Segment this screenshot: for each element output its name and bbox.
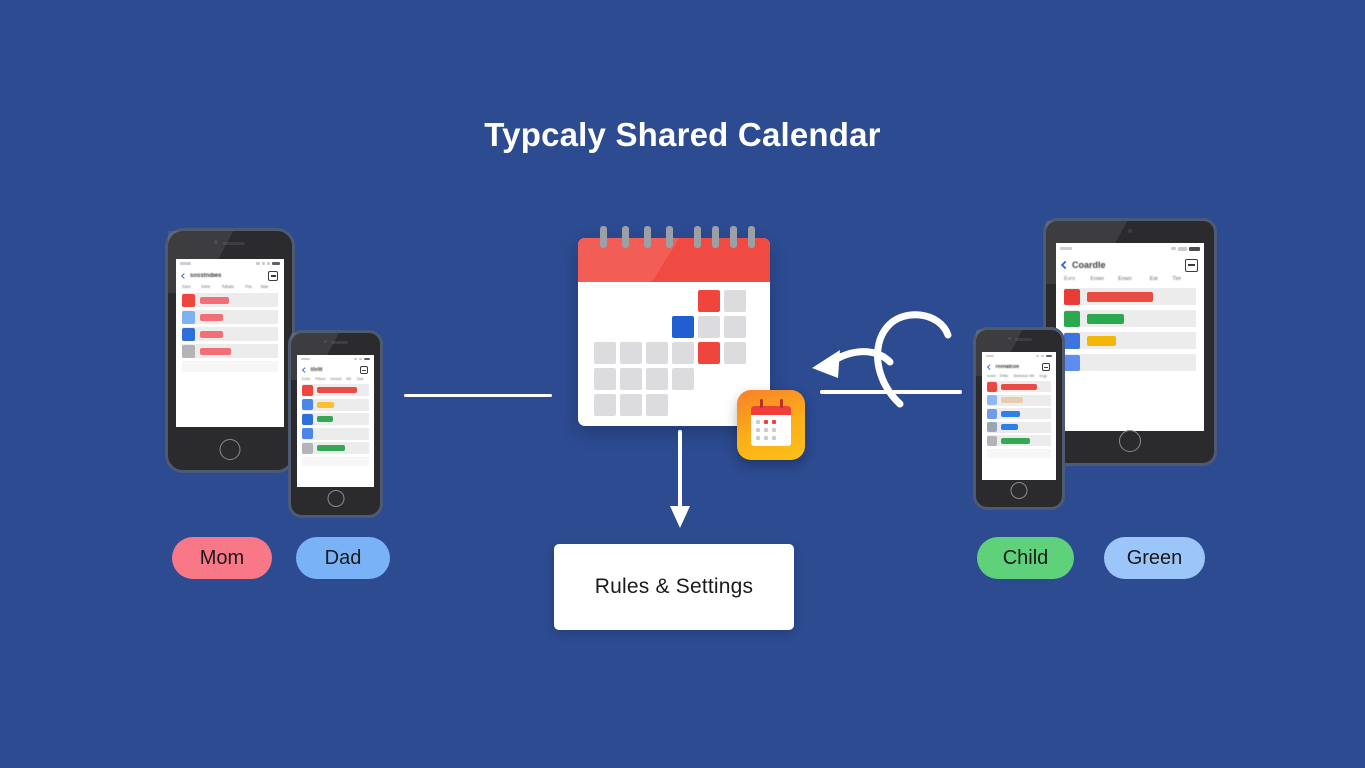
list-item[interactable] (182, 361, 278, 372)
color-swatch (182, 311, 195, 324)
diagram-canvas: Typcaly Shared Calendar (0, 0, 1365, 768)
home-button[interactable] (1119, 430, 1141, 452)
calendar-day-cell (698, 316, 720, 338)
down-arrow (660, 432, 700, 532)
calendar-day-cell (724, 290, 746, 312)
event-bar (1087, 336, 1116, 346)
speaker-grill (331, 341, 348, 344)
pill-label: Green (1127, 547, 1183, 570)
device-phone-mom[interactable]: sosstnibes Sare Inine fubate Fra Nae (165, 228, 295, 473)
column-headers: Sare Inine fubate Fra Nae (176, 284, 284, 289)
list-item[interactable] (182, 327, 278, 341)
calendar-day-cell (594, 394, 616, 416)
calendar-day-cell (672, 342, 694, 364)
calendar-day-cell (646, 342, 668, 364)
list-item[interactable] (1064, 354, 1196, 371)
list-item[interactable] (987, 408, 1051, 419)
home-button[interactable] (327, 490, 344, 507)
calendar-day-cell (672, 316, 694, 338)
list-item[interactable] (302, 384, 369, 396)
calendar-day-cell (672, 368, 694, 390)
color-swatch (1064, 355, 1080, 371)
tablet-screen[interactable]: Coardle Evro Eowo Eowo Ear Tier (1056, 243, 1204, 431)
app-navbar: tileltt (297, 363, 374, 377)
event-bar (1001, 411, 1020, 417)
minus-box-icon[interactable] (1042, 363, 1050, 371)
event-list[interactable] (982, 381, 1056, 458)
color-swatch (987, 395, 997, 405)
event-bar (1001, 384, 1037, 390)
minus-box-icon[interactable] (1185, 259, 1198, 272)
device-phone-child[interactable]: reenatcoe Ionee Ettiiic Betnuiue Mit Erg… (973, 327, 1065, 510)
nav-title: Coardle (1072, 260, 1106, 270)
color-swatch (302, 428, 313, 439)
nav-title: sosstnibes (190, 273, 221, 279)
status-bar (982, 352, 1056, 360)
rules-and-settings-box[interactable]: Rules & Settings (554, 544, 794, 630)
list-item[interactable] (182, 293, 278, 307)
nav-title: reenatcoe (996, 364, 1020, 370)
chevron-left-icon[interactable] (987, 365, 992, 370)
calendar-day-cell (724, 316, 746, 338)
pill-green[interactable]: Green (1104, 537, 1205, 579)
status-bar (1056, 243, 1204, 254)
pill-mom[interactable]: Mom (172, 537, 272, 579)
event-bar (317, 387, 357, 393)
camera-icon (324, 340, 327, 343)
color-swatch (1064, 333, 1080, 349)
calendar-grid (594, 290, 754, 416)
chevron-left-icon[interactable] (1061, 261, 1069, 269)
minus-box-icon[interactable] (360, 366, 368, 374)
camera-icon (1128, 229, 1132, 233)
calendar-day-cell (646, 394, 668, 416)
event-bar (317, 416, 333, 422)
list-item[interactable] (987, 395, 1051, 406)
list-item[interactable] (987, 435, 1051, 446)
calendar-rings (578, 226, 770, 250)
event-list[interactable] (1056, 288, 1204, 371)
list-item[interactable] (987, 449, 1051, 458)
phone-dad-screen[interactable]: tileltt Enite Piteon Unnest Mir Duk (297, 355, 374, 487)
event-bar (1001, 397, 1023, 403)
color-swatch (1064, 311, 1080, 327)
connector-line-left (404, 394, 552, 397)
list-item[interactable] (1064, 310, 1196, 327)
color-swatch (302, 443, 313, 454)
pill-label: Dad (325, 547, 362, 570)
event-bar (200, 314, 223, 321)
curved-sync-arrow (800, 300, 970, 425)
event-bar (200, 331, 223, 338)
status-bar (176, 259, 284, 268)
calendar-day-cell (698, 290, 720, 312)
list-item[interactable] (1064, 332, 1196, 349)
event-bar (200, 297, 229, 304)
color-swatch (1064, 289, 1080, 305)
chevron-left-icon[interactable] (181, 273, 187, 279)
event-bar (1001, 424, 1018, 430)
event-bar (317, 445, 345, 451)
device-tablet-green[interactable]: Coardle Evro Eowo Eowo Ear Tier (1043, 218, 1217, 466)
column-headers: Enite Piteon Unnest Mir Duk (297, 377, 374, 381)
list-item[interactable] (302, 457, 369, 466)
calendar-day-cell (620, 342, 642, 364)
app-navbar: sosstnibes (176, 268, 284, 284)
app-navbar: reenatcoe (982, 360, 1056, 374)
color-swatch (302, 414, 313, 425)
rules-label: Rules & Settings (595, 575, 753, 599)
event-list[interactable] (297, 384, 374, 466)
color-swatch (182, 345, 195, 358)
speaker-grill (1015, 338, 1032, 341)
event-bar (1087, 292, 1153, 302)
column-headers: Ionee Ettiiic Betnuiue Mit Ergp (982, 374, 1056, 378)
color-swatch (302, 399, 313, 410)
camera-icon (214, 240, 218, 244)
speaker-grill (223, 242, 245, 245)
phone-child-screen[interactable]: reenatcoe Ionee Ettiiic Betnuiue Mit Erg… (982, 352, 1056, 480)
phone-mom-screen[interactable]: sosstnibes Sare Inine fubate Fra Nae (176, 259, 284, 427)
color-swatch (182, 294, 195, 307)
list-item[interactable] (987, 422, 1051, 433)
color-swatch (987, 382, 997, 392)
nav-title: tileltt (311, 367, 323, 373)
color-swatch (302, 385, 313, 396)
event-bar (317, 402, 334, 408)
calendar-day-cell (698, 342, 720, 364)
home-button[interactable] (220, 439, 241, 460)
calendar-day-cell (594, 342, 616, 364)
pill-label: Mom (200, 547, 244, 570)
pill-dad[interactable]: Dad (296, 537, 390, 579)
pill-child[interactable]: Child (977, 537, 1074, 579)
calendar-day-cell (620, 394, 642, 416)
calendar-day-cell (646, 368, 668, 390)
page-title: Typcaly Shared Calendar (0, 116, 1365, 154)
pill-label: Child (1003, 547, 1049, 570)
calendar-day-cell (594, 368, 616, 390)
calendar-day-cell (724, 342, 746, 364)
event-bar (200, 348, 231, 355)
camera-icon (1008, 337, 1011, 340)
list-item[interactable] (302, 442, 369, 454)
event-list[interactable] (176, 293, 284, 372)
list-item[interactable] (302, 413, 369, 425)
minus-box-icon[interactable] (268, 271, 278, 281)
calendar-app-badge-icon (737, 390, 805, 460)
status-bar (297, 355, 374, 363)
column-headers: Evro Eowo Eowo Ear Tier (1056, 276, 1204, 282)
list-item[interactable] (302, 399, 369, 411)
list-item[interactable] (1064, 288, 1196, 305)
color-swatch (182, 328, 195, 341)
event-bar (1087, 314, 1124, 324)
list-item[interactable] (302, 428, 369, 440)
list-item[interactable] (182, 310, 278, 324)
list-item[interactable] (987, 381, 1051, 392)
calendar-day-cell (620, 368, 642, 390)
color-swatch (987, 436, 997, 446)
event-bar (1001, 438, 1030, 444)
color-swatch (987, 422, 997, 432)
chevron-left-icon[interactable] (302, 368, 307, 373)
home-button[interactable] (1011, 482, 1028, 499)
color-swatch (987, 409, 997, 419)
device-phone-dad[interactable]: tileltt Enite Piteon Unnest Mir Duk (288, 330, 383, 518)
list-item[interactable] (182, 344, 278, 358)
app-navbar: Coardle (1056, 254, 1204, 276)
